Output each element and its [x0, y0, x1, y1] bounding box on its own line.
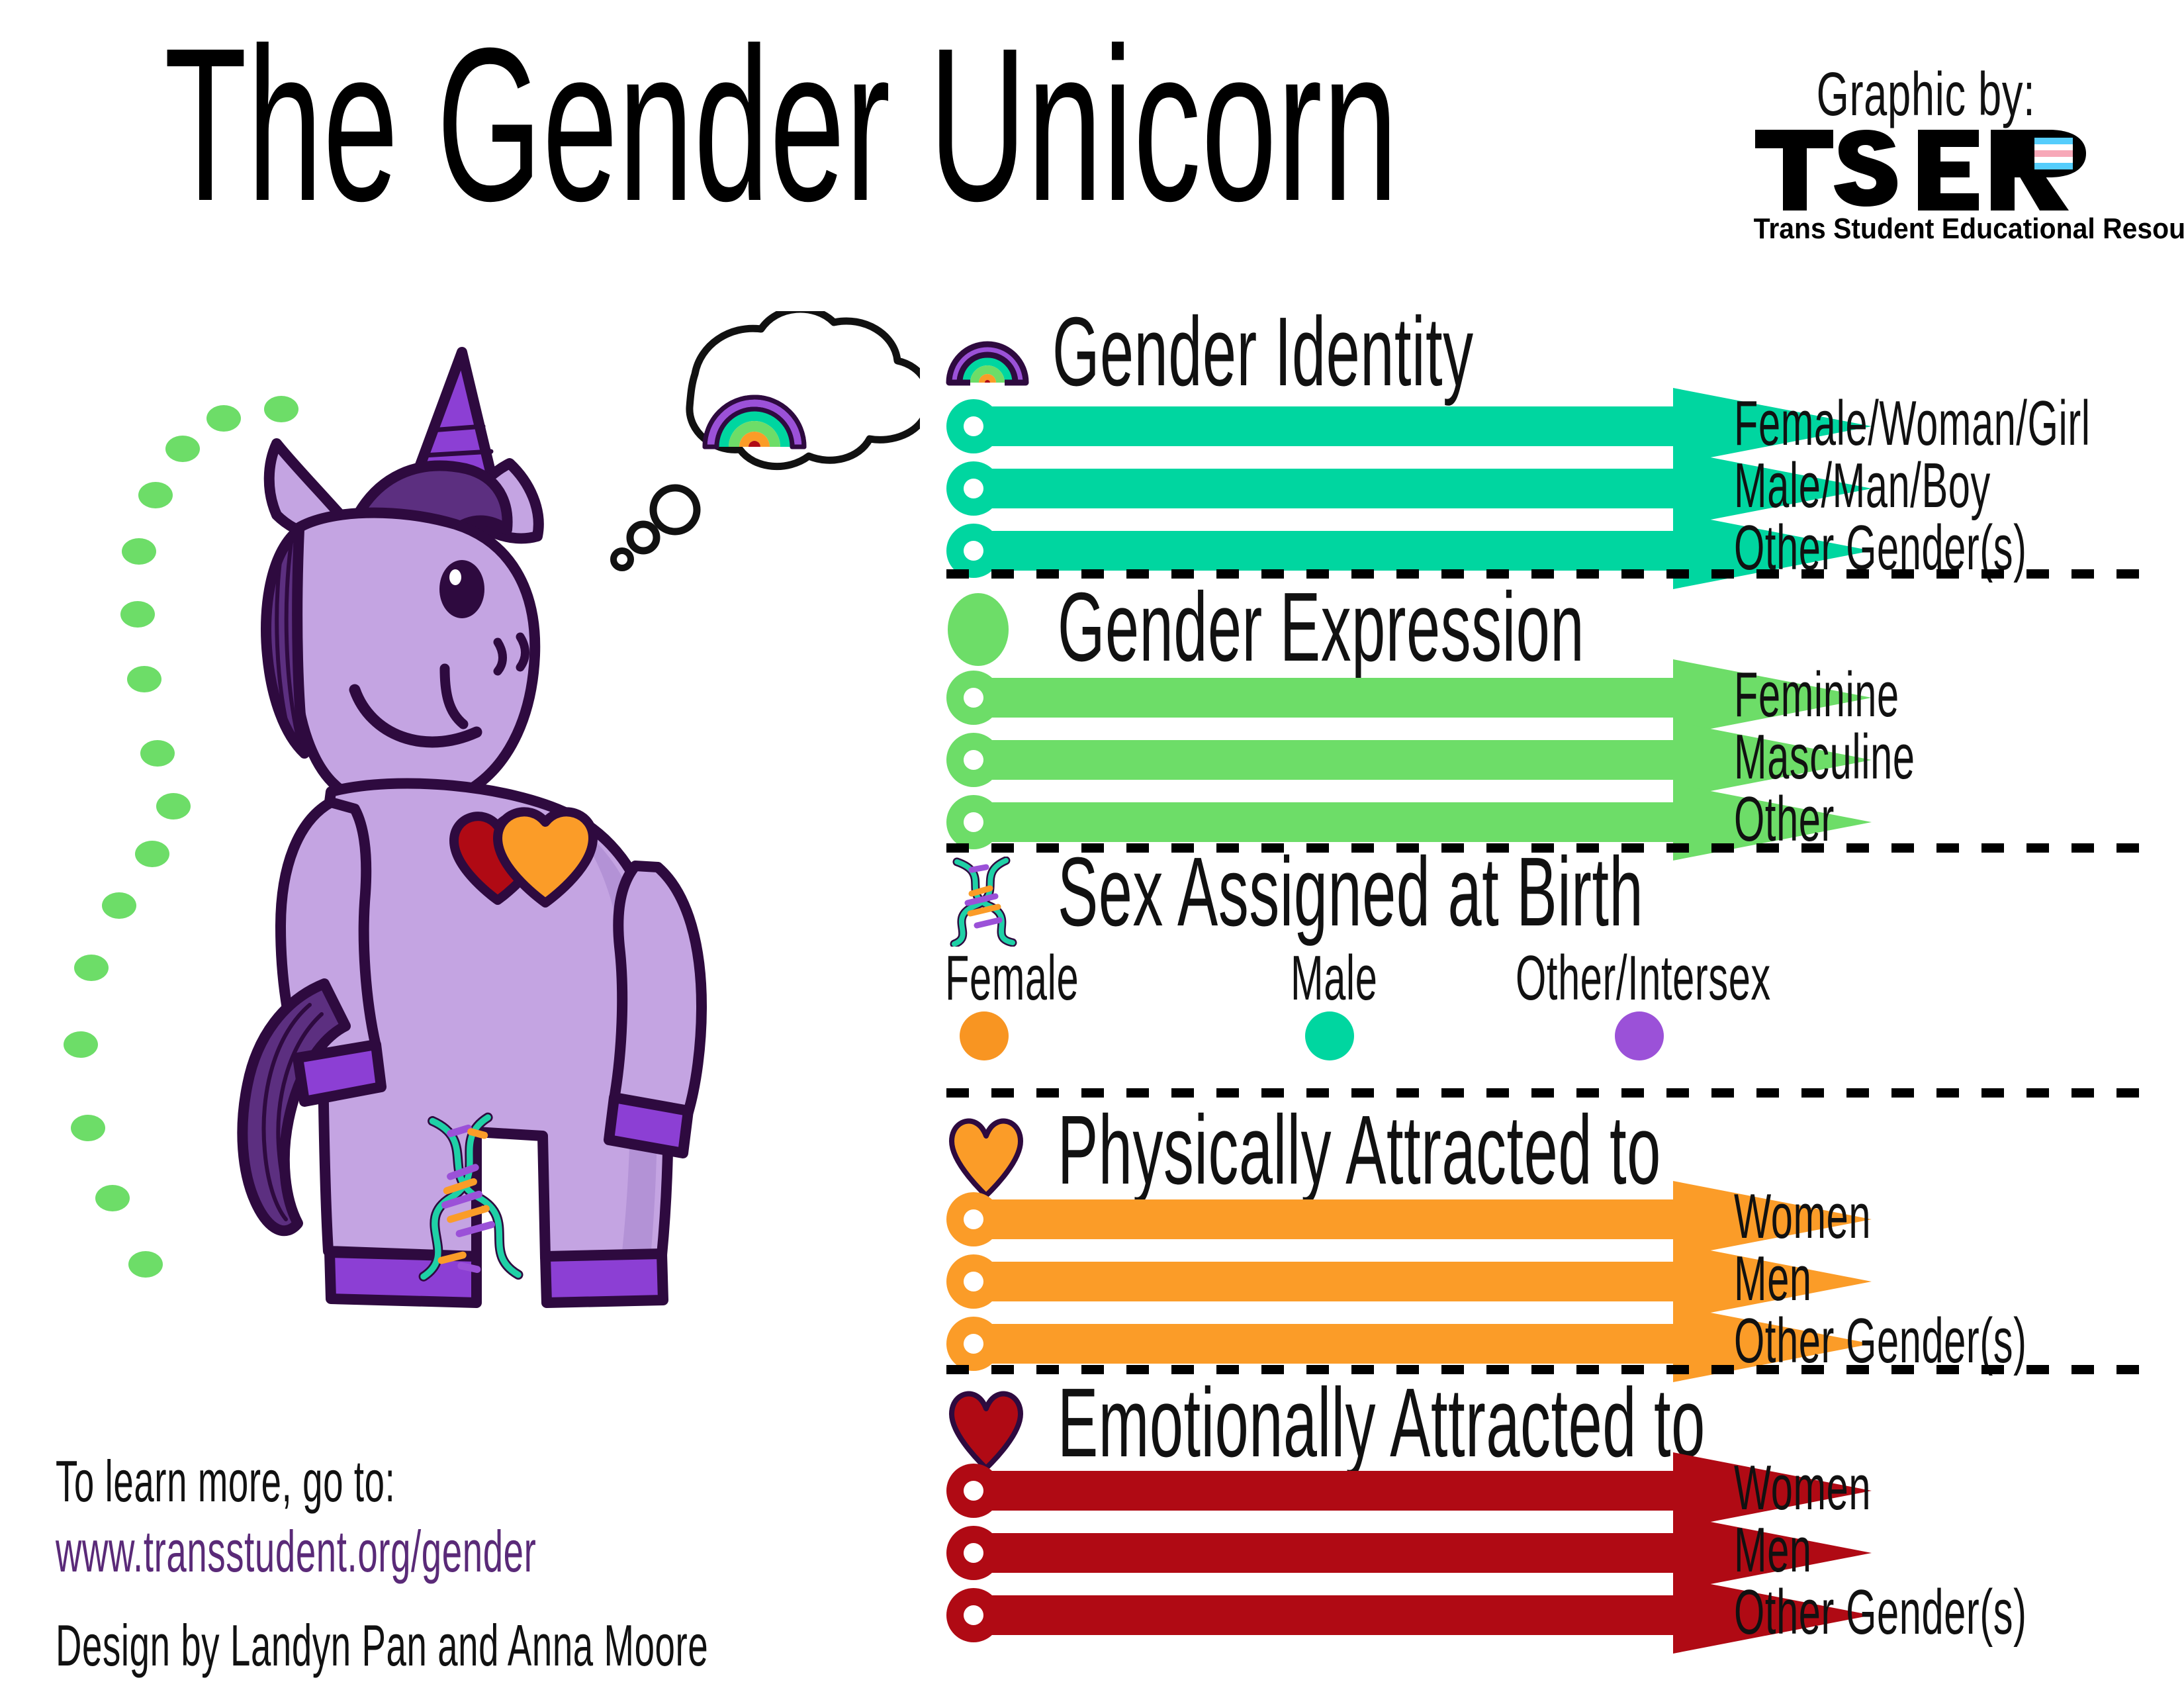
trans-flag-icon	[2032, 138, 2075, 170]
arrow-shaft	[985, 406, 1673, 446]
orange-heart-icon	[948, 1115, 1024, 1198]
infographic-canvas: The Gender Unicorn Graphic by:	[0, 0, 2184, 1688]
section-title-gender-expression: Gender Expression	[1058, 581, 1584, 674]
arrow-shaft	[985, 531, 1673, 571]
dna-icon	[948, 857, 1021, 947]
option-label: Male/Man/Boy	[1734, 455, 1991, 516]
sab-label: Male	[1291, 948, 1377, 1009]
arrow-shaft	[985, 678, 1673, 718]
arrow-shaft	[985, 1471, 1673, 1511]
option-label: Women	[1734, 1186, 1871, 1247]
sab-label: Female	[945, 948, 1079, 1009]
graphic-by-label: Graphic by:	[1800, 66, 2052, 122]
arrow-shaft	[985, 1199, 1673, 1239]
option-label: Men	[1734, 1248, 1812, 1309]
option-label: Masculine	[1734, 727, 1915, 788]
arrow-shaft	[985, 469, 1673, 508]
learn-more-label: To learn more, go to:	[56, 1452, 395, 1511]
red-heart-icon	[948, 1387, 1024, 1471]
option-label: Other	[1734, 789, 1835, 850]
sab-dot-male	[1305, 1011, 1354, 1060]
arrow-shaft	[985, 740, 1673, 780]
tser-tagline: Trans Student Educational Resources	[1754, 216, 2099, 242]
arrow-shaft	[985, 1533, 1673, 1573]
transstudent-url-link[interactable]: www.transstudent.org/gender	[56, 1523, 536, 1581]
arrow-shaft	[985, 1595, 1673, 1635]
option-label: Female/Woman/Girl	[1734, 393, 2091, 454]
arrow-shaft	[985, 1262, 1673, 1301]
arrow-shaft	[985, 1324, 1673, 1364]
design-credit-label: Design by Landyn Pan and Anna Moore	[56, 1617, 708, 1675]
tser-logo	[1754, 126, 2098, 212]
section-title-gender-identity: Gender Identity	[1052, 306, 1474, 399]
section-title-emotionally-attracted-to: Emotionally Attracted to	[1058, 1377, 1706, 1470]
sab-dot-female	[960, 1011, 1009, 1060]
option-label: Men	[1734, 1520, 1812, 1581]
option-label: Feminine	[1734, 665, 1899, 726]
section-title-sex-assigned-at-birth: Sex Assigned at Birth	[1058, 846, 1643, 939]
sab-label: Other/Intersex	[1516, 948, 1771, 1009]
option-label: Other Gender(s)	[1734, 1582, 2027, 1643]
page-title: The Gender Unicorn	[164, 19, 1398, 230]
unicorn-illustration	[199, 311, 827, 1383]
green-circle-icon	[948, 593, 1009, 666]
option-label: Other Gender(s)	[1734, 1311, 2027, 1372]
sab-dot-other-intersex	[1615, 1011, 1664, 1060]
arrow-shaft	[985, 802, 1673, 842]
rainbow-icon	[945, 316, 1031, 389]
option-label: Women	[1734, 1458, 1871, 1519]
section-title-physically-attracted-to: Physically Attracted to	[1058, 1104, 1661, 1197]
tser-credit-block: Graphic by:	[1741, 66, 2111, 242]
